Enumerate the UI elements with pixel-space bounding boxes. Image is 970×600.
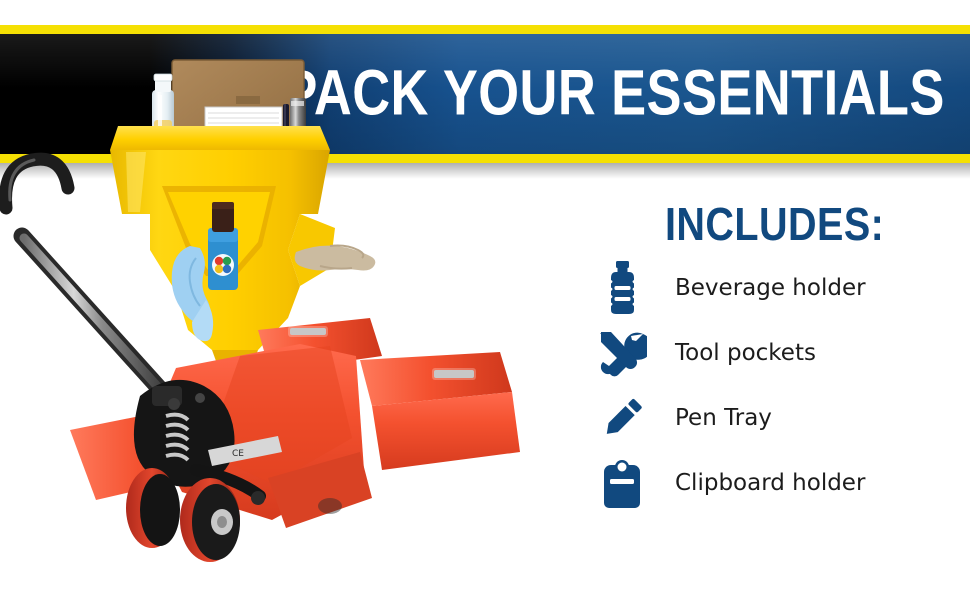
spray-can: [208, 202, 238, 290]
work-gloves: [295, 246, 376, 271]
feature-label: Clipboard holder: [675, 470, 865, 496]
includes-heading: INCLUDES:: [665, 201, 884, 247]
feature-list: Beverage holder Tool pockets: [575, 255, 955, 515]
svg-text:CE: CE: [232, 449, 244, 459]
clipboard-icon: [593, 454, 651, 512]
pallet-jack-illustration: label CE: [0, 0, 560, 580]
feature-label: Pen Tray: [675, 405, 772, 431]
water-bottle-icon: [593, 259, 651, 317]
feature-item-pen-tray: Pen Tray: [575, 385, 955, 450]
feature-label: Beverage holder: [675, 275, 866, 301]
pallet-jack-roller: [318, 498, 342, 514]
feature-item-beverage-holder: Beverage holder: [575, 255, 955, 320]
feature-label: Tool pockets: [675, 340, 816, 366]
pallet-jack-fork-right: [360, 352, 520, 470]
wrench-screwdriver-icon: [593, 324, 651, 382]
product-photo: label CE: [0, 0, 560, 580]
feature-item-clipboard-holder: Clipboard holder: [575, 450, 955, 515]
feature-item-tool-pockets: Tool pockets: [575, 320, 955, 385]
pen-icon: [593, 389, 651, 447]
includes-section: INCLUDES: Beverage holder: [575, 195, 955, 565]
